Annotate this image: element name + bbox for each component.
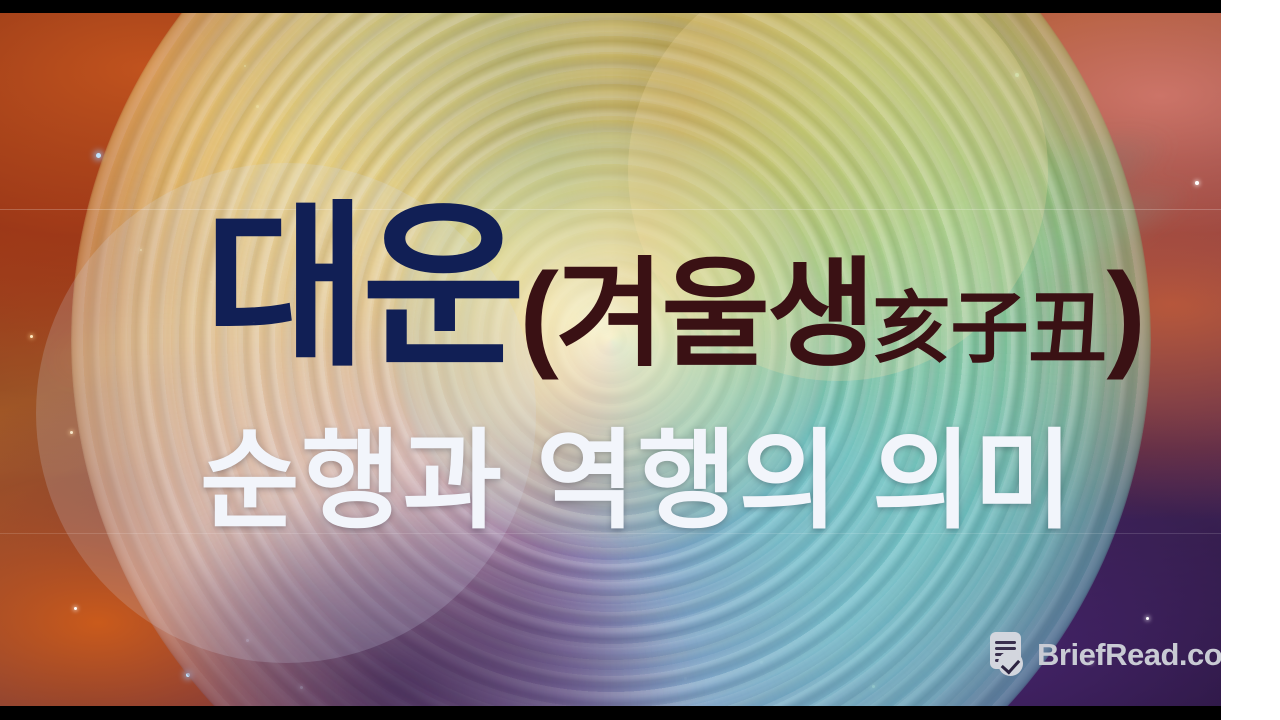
watermark-label: BriefRead.com <box>1037 639 1221 670</box>
watermark: BriefRead.com <box>988 628 1221 680</box>
title-block: 대운(겨울생亥子丑) 순행과 역행의 의미 <box>0 13 1221 706</box>
screenshot-root: 대운(겨울생亥子丑) 순행과 역행의 의미 BriefRead.com <box>0 0 1280 720</box>
title-line-primary: 대운(겨울생亥子丑) <box>204 199 1143 377</box>
title-main-term: 대운 <box>204 188 520 387</box>
video-canvas: 대운(겨울생亥子丑) 순행과 역행의 의미 BriefRead.com <box>0 13 1221 706</box>
right-white-gutter <box>1221 0 1280 720</box>
title-paren-open: (겨울생 <box>520 249 873 381</box>
title-line-subtitle: 순행과 역행의 의미 <box>200 427 1075 535</box>
document-check-icon <box>988 632 1026 676</box>
title-hanja-branches: 亥子丑 <box>873 284 1107 372</box>
check-badge-icon <box>998 651 1023 676</box>
title-paren-close: ) <box>1107 249 1143 381</box>
video-letterbox-frame: 대운(겨울생亥子丑) 순행과 역행의 의미 BriefRead.com <box>0 0 1221 720</box>
